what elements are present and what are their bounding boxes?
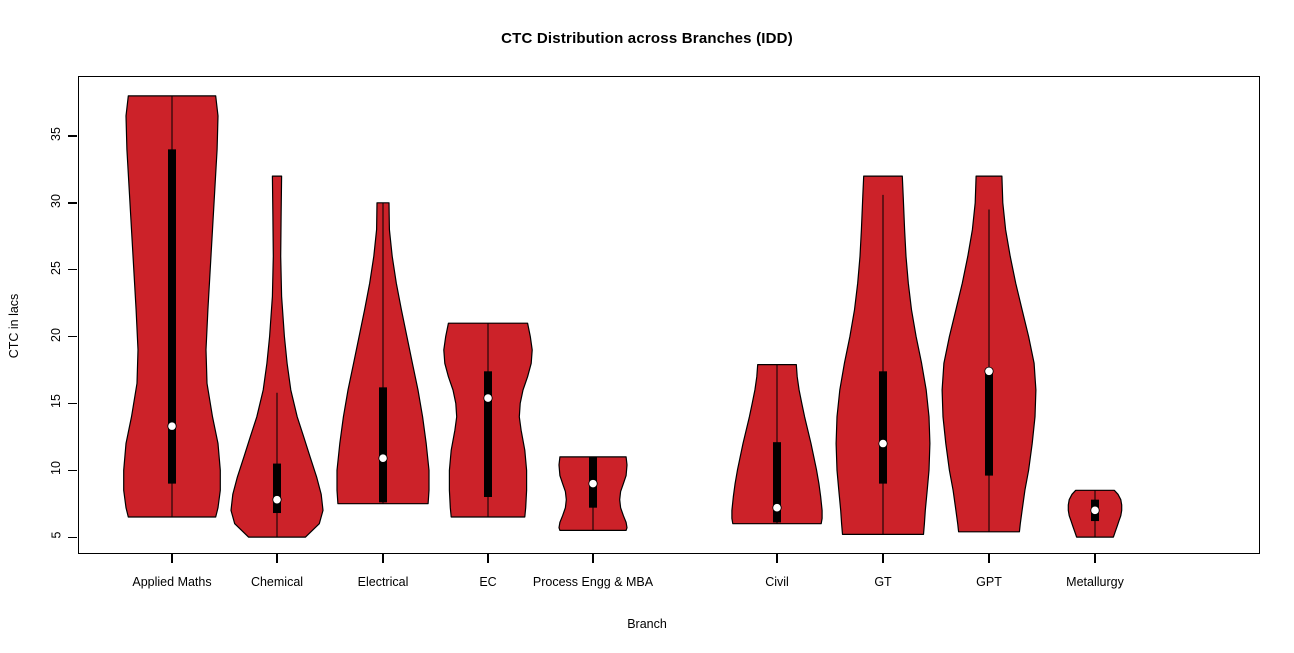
median-marker bbox=[1091, 506, 1099, 514]
median-marker bbox=[879, 439, 887, 447]
median-marker bbox=[379, 454, 387, 462]
violin-ec bbox=[444, 323, 532, 517]
interquartile-box bbox=[484, 371, 492, 497]
interquartile-box bbox=[879, 371, 887, 483]
violin-svg bbox=[0, 0, 1294, 653]
violin-civil bbox=[732, 365, 822, 524]
median-marker bbox=[168, 422, 176, 430]
violin-applied-maths bbox=[124, 96, 221, 517]
interquartile-box bbox=[168, 149, 176, 483]
x-axis-label: Branch bbox=[0, 617, 1294, 631]
violin-electrical bbox=[337, 203, 429, 504]
median-marker bbox=[273, 495, 281, 503]
violin-layer bbox=[0, 0, 1294, 653]
chart-canvas: CTC Distribution across Branches (IDD) C… bbox=[0, 0, 1294, 653]
median-marker bbox=[985, 367, 993, 375]
violin-metallurgy bbox=[1068, 490, 1121, 537]
interquartile-box bbox=[273, 464, 281, 513]
violin-gpt bbox=[942, 176, 1036, 532]
violin-chemical bbox=[231, 176, 323, 537]
violin-gt bbox=[836, 176, 930, 534]
interquartile-box bbox=[379, 387, 387, 502]
median-marker bbox=[484, 394, 492, 402]
median-marker bbox=[589, 479, 597, 487]
interquartile-box bbox=[985, 371, 993, 475]
violin-process-engg-mba bbox=[559, 457, 627, 531]
median-marker bbox=[773, 503, 781, 511]
